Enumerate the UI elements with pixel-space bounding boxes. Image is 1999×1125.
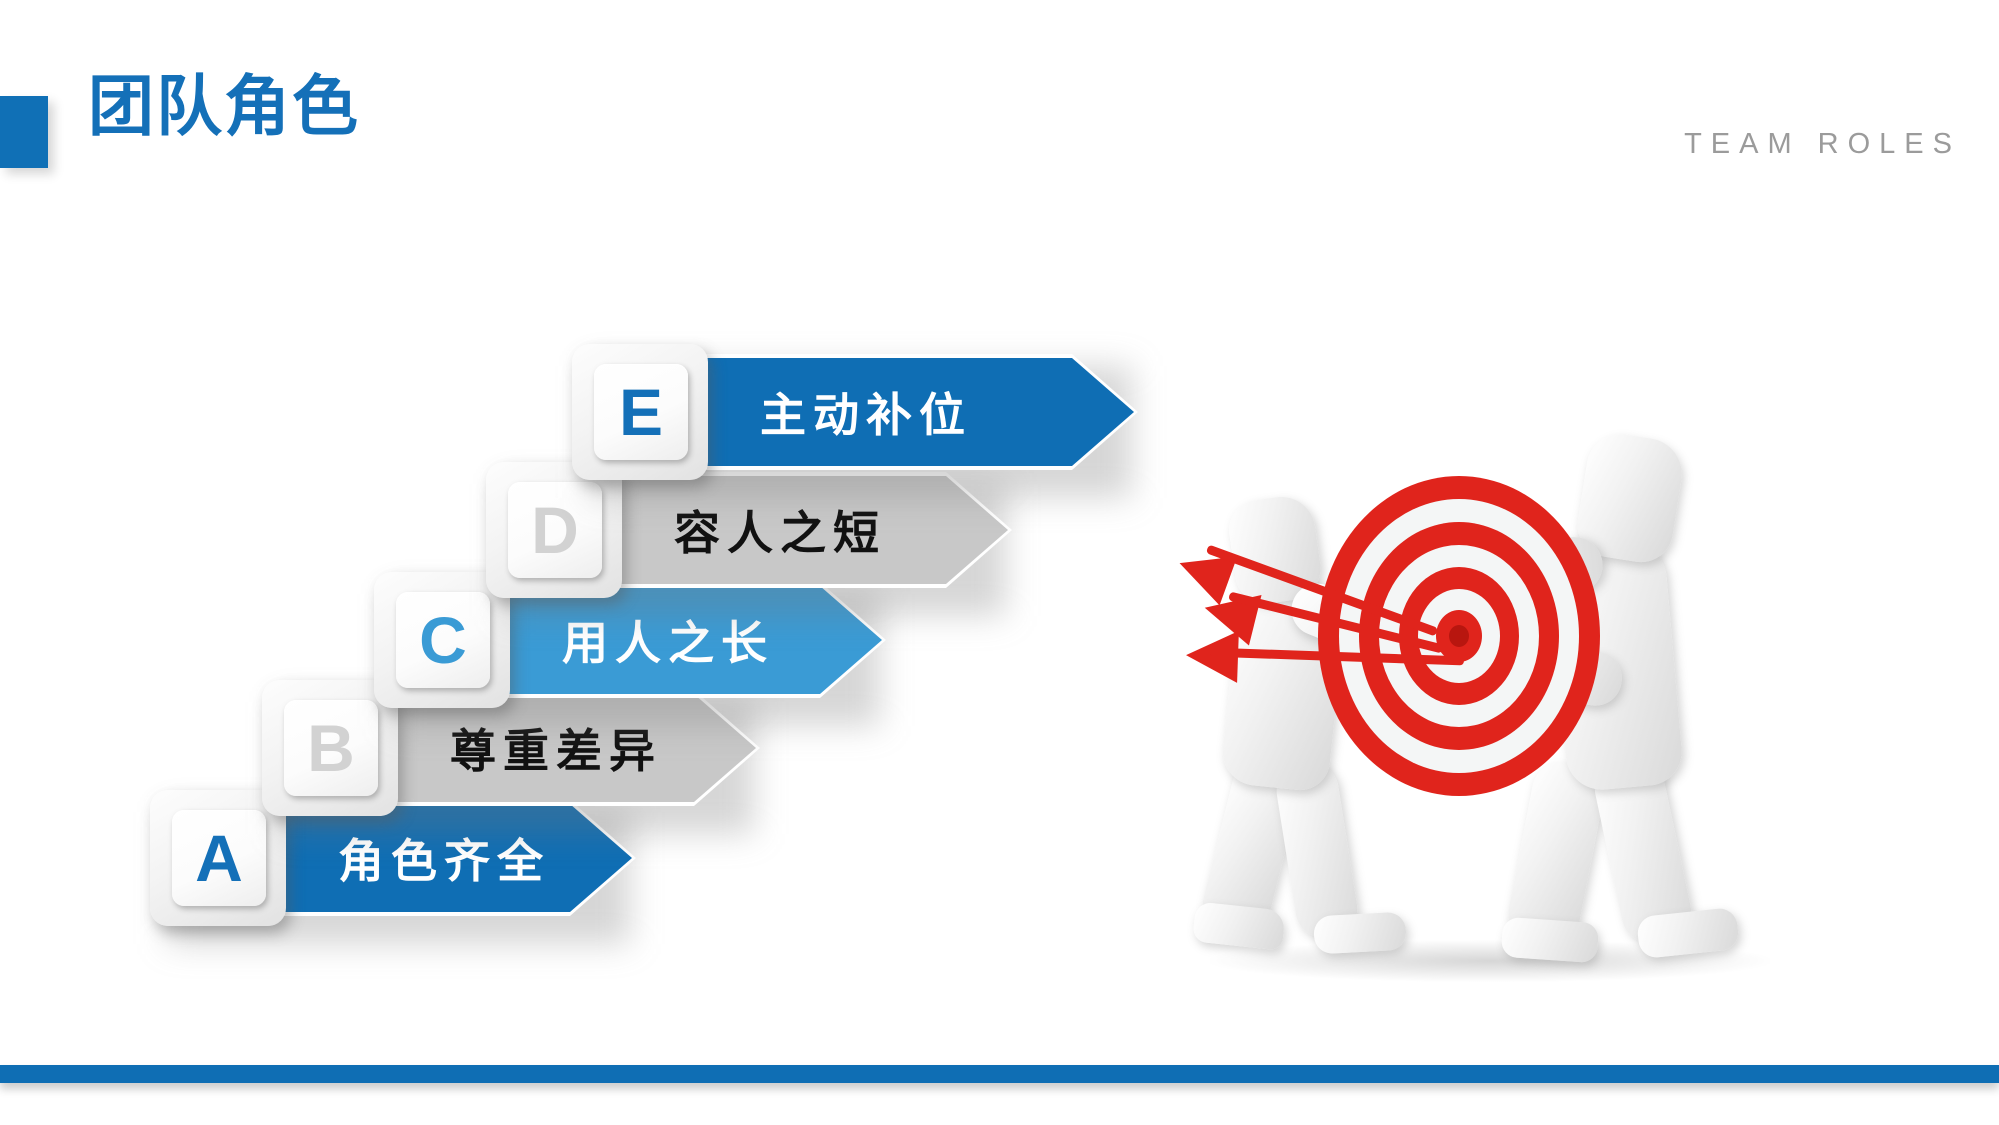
step-letter-glyph: E: [619, 379, 663, 445]
step-banner-label: 角色齐全: [338, 825, 550, 891]
target-board-icon: [1318, 476, 1600, 796]
step-letter-keycap: B: [284, 700, 378, 796]
left-figure-foot: [1192, 901, 1286, 950]
target-illustration: [1170, 390, 1810, 1000]
left-figure-foot-back: [1313, 912, 1407, 955]
step-row[interactable]: 主动补位E: [572, 344, 1154, 480]
footer-bar: [0, 1065, 1999, 1083]
step-letter-card[interactable]: E: [572, 344, 708, 480]
target-bullseye: [1449, 625, 1469, 647]
step-banner-label: 主动补位: [760, 379, 972, 445]
step-letter-glyph: B: [307, 715, 355, 781]
right-figure-foot: [1501, 917, 1600, 964]
team-roles-staircase: 角色齐全A尊重差异B用人之长C容人之短D主动补位E: [0, 0, 1200, 1000]
header-subtitle: TEAM ROLES: [1684, 128, 1961, 161]
step-banner[interactable]: 主动补位: [704, 358, 1134, 466]
step-letter-keycap: D: [508, 482, 602, 578]
step-letter-glyph: A: [195, 825, 243, 891]
step-letter-glyph: C: [419, 607, 467, 673]
step-letter-keycap: C: [396, 592, 490, 688]
step-banner-label: 用人之长: [562, 607, 774, 673]
step-letter-glyph: D: [531, 497, 579, 563]
step-banner-label: 容人之短: [674, 497, 886, 563]
step-letter-keycap: E: [594, 364, 688, 460]
step-letter-keycap: A: [172, 810, 266, 906]
slide-canvas: 团队角色 TEAM ROLES 角色齐全A尊重差异B用人之长C容人之短D主动补位…: [0, 0, 1999, 1125]
